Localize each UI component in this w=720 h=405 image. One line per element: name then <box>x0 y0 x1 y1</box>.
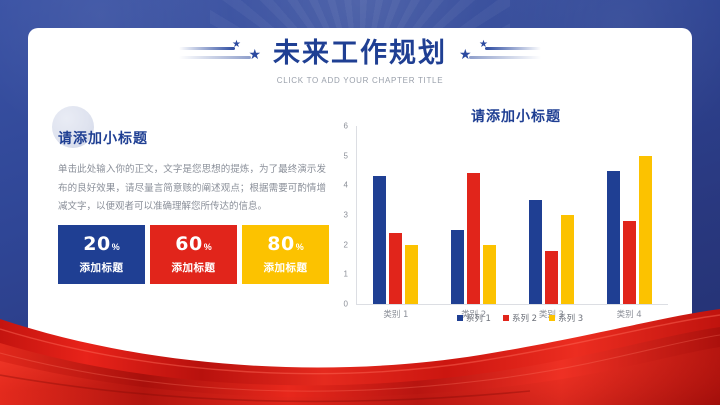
slide-header: ★ ★ 未来工作规划 ★ ★ CLICK TO ADD YOUR CHAPTER… <box>28 34 692 85</box>
chart-bar[interactable] <box>467 173 480 304</box>
legend-label: 系列 2 <box>512 312 537 324</box>
legend-swatch <box>457 315 463 321</box>
star-icon: ★ <box>459 47 472 61</box>
stat-unit: % <box>112 243 120 252</box>
y-axis-tick: 2 <box>344 240 348 249</box>
y-axis-tick: 6 <box>344 122 348 131</box>
y-axis-tick: 3 <box>344 211 348 220</box>
star-icon: ★ <box>248 47 261 61</box>
star-icon: ★ <box>479 40 488 50</box>
stat-box[interactable]: 60 % 添加标题 <box>150 225 237 284</box>
chart-bar[interactable] <box>483 245 496 304</box>
deco-line-bottom-right <box>469 56 541 59</box>
stat-caption: 添加标题 <box>80 260 124 275</box>
bar-chart: 请添加小标题 0123456 类别 1类别 2类别 3类别 4 系列 1系列 2… <box>328 106 680 358</box>
chart-bars <box>357 126 668 304</box>
bar-group <box>594 126 664 304</box>
stat-boxes: 20 % 添加标题 60 % 添加标题 80 % 添加标题 <box>58 225 329 284</box>
stat-box[interactable]: 20 % 添加标题 <box>58 225 145 284</box>
title-decoration-right: ★ ★ <box>457 41 545 65</box>
chart-bar[interactable] <box>607 171 620 305</box>
page-subtitle: CLICK TO ADD YOUR CHAPTER TITLE <box>28 76 692 85</box>
chart-bar[interactable] <box>639 156 652 304</box>
legend-swatch <box>549 315 555 321</box>
deco-line-top-right <box>485 47 541 50</box>
legend-swatch <box>503 315 509 321</box>
deco-line-bottom-left <box>179 56 251 59</box>
left-body-text: 单击此处输入你的正文，文字是您思想的提炼，为了最终演示发布的良好效果，请尽量言简… <box>58 161 326 217</box>
content-card: ★ ★ 未来工作规划 ★ ★ CLICK TO ADD YOUR CHAPTER… <box>28 28 692 377</box>
title-row: ★ ★ 未来工作规划 ★ ★ <box>28 34 692 72</box>
legend-label: 系列 1 <box>466 312 491 324</box>
page-title: 未来工作规划 <box>273 40 447 67</box>
y-axis-tick: 5 <box>344 151 348 160</box>
stat-caption: 添加标题 <box>264 260 308 275</box>
legend-item[interactable]: 系列 1 <box>457 312 491 324</box>
chart-bar[interactable] <box>545 251 558 304</box>
chart-bar[interactable] <box>451 230 464 304</box>
stat-value: 20 <box>83 235 110 254</box>
chart-bar[interactable] <box>405 245 418 304</box>
stat-unit: % <box>296 243 304 252</box>
chart-legend: 系列 1系列 2系列 3 <box>344 312 696 324</box>
y-axis-tick: 1 <box>344 270 348 279</box>
stat-value: 60 <box>175 235 202 254</box>
stat-unit: % <box>204 243 212 252</box>
chart-bar[interactable] <box>389 233 402 304</box>
bar-group <box>439 126 509 304</box>
chart-bar[interactable] <box>623 221 636 304</box>
chart-bar[interactable] <box>561 215 574 304</box>
slide: ★ ★ 未来工作规划 ★ ★ CLICK TO ADD YOUR CHAPTER… <box>0 0 720 405</box>
chart-bar[interactable] <box>529 200 542 304</box>
bar-group <box>516 126 586 304</box>
y-axis-tick: 0 <box>344 300 348 309</box>
x-axis-line <box>356 304 668 305</box>
stat-value-row: 80 % <box>267 235 303 254</box>
title-decoration-left: ★ ★ <box>175 41 263 65</box>
left-section-heading: 请添加小标题 <box>58 128 332 148</box>
legend-item[interactable]: 系列 3 <box>549 312 583 324</box>
deco-line-top-left <box>179 47 235 50</box>
stat-caption: 添加标题 <box>172 260 216 275</box>
chart-bar[interactable] <box>373 176 386 304</box>
stat-value-row: 20 % <box>83 235 119 254</box>
chart-title: 请添加小标题 <box>352 106 680 126</box>
star-icon: ★ <box>232 40 241 50</box>
legend-item[interactable]: 系列 2 <box>503 312 537 324</box>
legend-label: 系列 3 <box>558 312 583 324</box>
left-column: 请添加小标题 单击此处输入你的正文，文字是您思想的提炼，为了最终演示发布的良好效… <box>50 110 332 217</box>
y-axis-tick: 4 <box>344 181 348 190</box>
bar-group <box>361 126 431 304</box>
stat-box[interactable]: 80 % 添加标题 <box>242 225 329 284</box>
stat-value: 80 <box>267 235 294 254</box>
y-axis: 0123456 <box>328 126 354 304</box>
chart-plot-area: 0123456 类别 1类别 2类别 3类别 4 <box>328 126 680 326</box>
stat-value-row: 60 % <box>175 235 211 254</box>
